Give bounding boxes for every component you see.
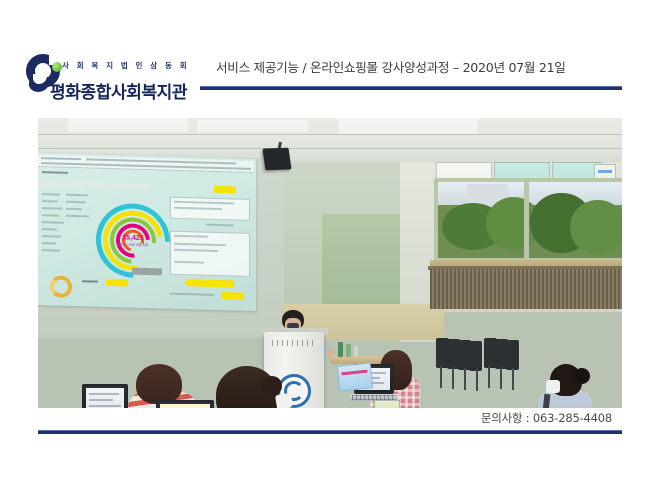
ceiling-panel bbox=[338, 118, 478, 134]
attendee-hair-bun bbox=[574, 368, 590, 384]
attendee-face-mask bbox=[275, 393, 293, 408]
contact-info: 문의사항 : 063-285-4408 bbox=[0, 410, 612, 426]
water-bottle bbox=[338, 342, 343, 357]
ceiling-seam bbox=[38, 148, 622, 149]
podium-vent bbox=[272, 340, 316, 346]
organization-logo: 사 회 복 지 법 인 삼 동 회 평화종합사회복지관 bbox=[26, 52, 206, 104]
header-rule bbox=[200, 87, 622, 90]
presenter-hand bbox=[326, 349, 334, 356]
ceiling-panel bbox=[198, 120, 308, 132]
window-foliage bbox=[570, 200, 622, 255]
water-bottle bbox=[354, 346, 358, 357]
wall-speaker bbox=[262, 148, 291, 171]
logo-subtitle: 사 회 복 지 법 인 삼 동 회 bbox=[62, 60, 189, 71]
radiator bbox=[430, 269, 622, 309]
ceiling-panel bbox=[68, 118, 188, 132]
name-card-holder bbox=[374, 400, 400, 408]
laptop-screen bbox=[82, 384, 128, 408]
screen-app-body: 15,425 온라인쇼핑몰 매출 현황 bbox=[38, 167, 256, 311]
window-mullion bbox=[524, 178, 529, 262]
slide-header: 사 회 복 지 법 인 삼 동 회 평화종합사회복지관 서비스 제공기능 / 온… bbox=[0, 0, 650, 112]
laptop-keyboard bbox=[350, 394, 398, 401]
laptop-screen bbox=[156, 400, 214, 408]
secondary-donut-chart bbox=[50, 275, 72, 298]
logo-green-dot-icon bbox=[52, 62, 62, 72]
page-title: 서비스 제공기능 / 온라인쇼핑몰 강사양성과정 – 2020년 07월 21일 bbox=[216, 57, 616, 76]
handout-paper bbox=[337, 362, 374, 391]
photo-scene: 15,425 온라인쇼핑몰 매출 현황 bbox=[38, 118, 622, 408]
footer-rule bbox=[38, 431, 622, 434]
water-bottle bbox=[346, 344, 351, 357]
projector-screen: 15,425 온라인쇼핑몰 매출 현황 bbox=[38, 153, 256, 311]
ceiling-seam bbox=[38, 134, 622, 135]
slide-canvas: 사 회 복 지 법 인 삼 동 회 평화종합사회복지관 서비스 제공기능 / 온… bbox=[0, 0, 650, 500]
attendee-hair bbox=[136, 364, 182, 404]
attendee-hair-bun bbox=[262, 376, 282, 396]
logo-title: 평화종합사회복지관 bbox=[50, 78, 187, 103]
stacked-chairs bbox=[436, 336, 534, 384]
donut-center-label: 15,425 온라인쇼핑몰 매출 현황 bbox=[116, 234, 150, 247]
attendee-face-mask bbox=[546, 380, 560, 393]
training-photo: 15,425 온라인쇼핑몰 매출 현황 bbox=[38, 118, 622, 408]
